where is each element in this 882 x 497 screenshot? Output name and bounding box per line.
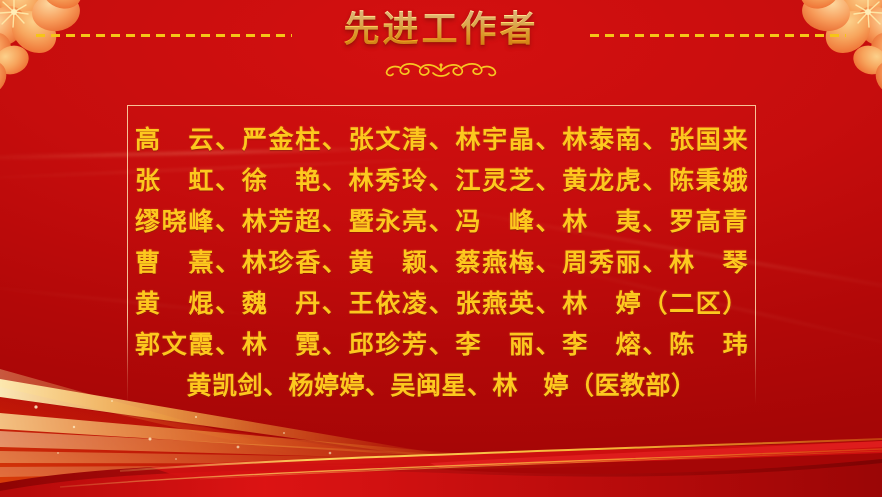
- name-row: 张 虹、徐 艳、林秀玲、江灵芝、黄龙虎、陈秉娥: [135, 160, 748, 201]
- honoree-panel: 高 云、严金柱、张文清、林宇晶、林泰南、张国来 张 虹、徐 艳、林秀玲、江灵芝、…: [127, 105, 756, 405]
- name-row: 高 云、严金柱、张文清、林宇晶、林泰南、张国来: [135, 119, 748, 160]
- title-block: 先进工作者: [0, 6, 882, 81]
- name-row: 黄 焜、魏 丹、王依凌、张燕英、林 婷（二区）: [135, 283, 748, 324]
- filigree-ornament-icon: [381, 57, 501, 81]
- name-row: 黄凯剑、杨婷婷、吴闽星、林 婷（医教部）: [135, 365, 748, 406]
- name-row: 曹 熹、林珍香、黄 颖、蔡燕梅、周秀丽、林 琴: [135, 242, 748, 283]
- name-row: 郭文霞、林 霓、邱珍芳、李 丽、李 熔、陈 玮: [135, 324, 748, 365]
- slide-canvas: 先进工作者 高 云、严金柱、张文清、林宇晶、林泰南、张国来 张 虹、徐 艳、林秀…: [0, 0, 882, 497]
- name-row: 缪晓峰、林芳超、暨永亮、冯 峰、林 夷、罗高青: [135, 201, 748, 242]
- page-title: 先进工作者: [343, 6, 538, 54]
- honoree-name-list: 高 云、严金柱、张文清、林宇晶、林泰南、张国来 张 虹、徐 艳、林秀玲、江灵芝、…: [135, 119, 748, 406]
